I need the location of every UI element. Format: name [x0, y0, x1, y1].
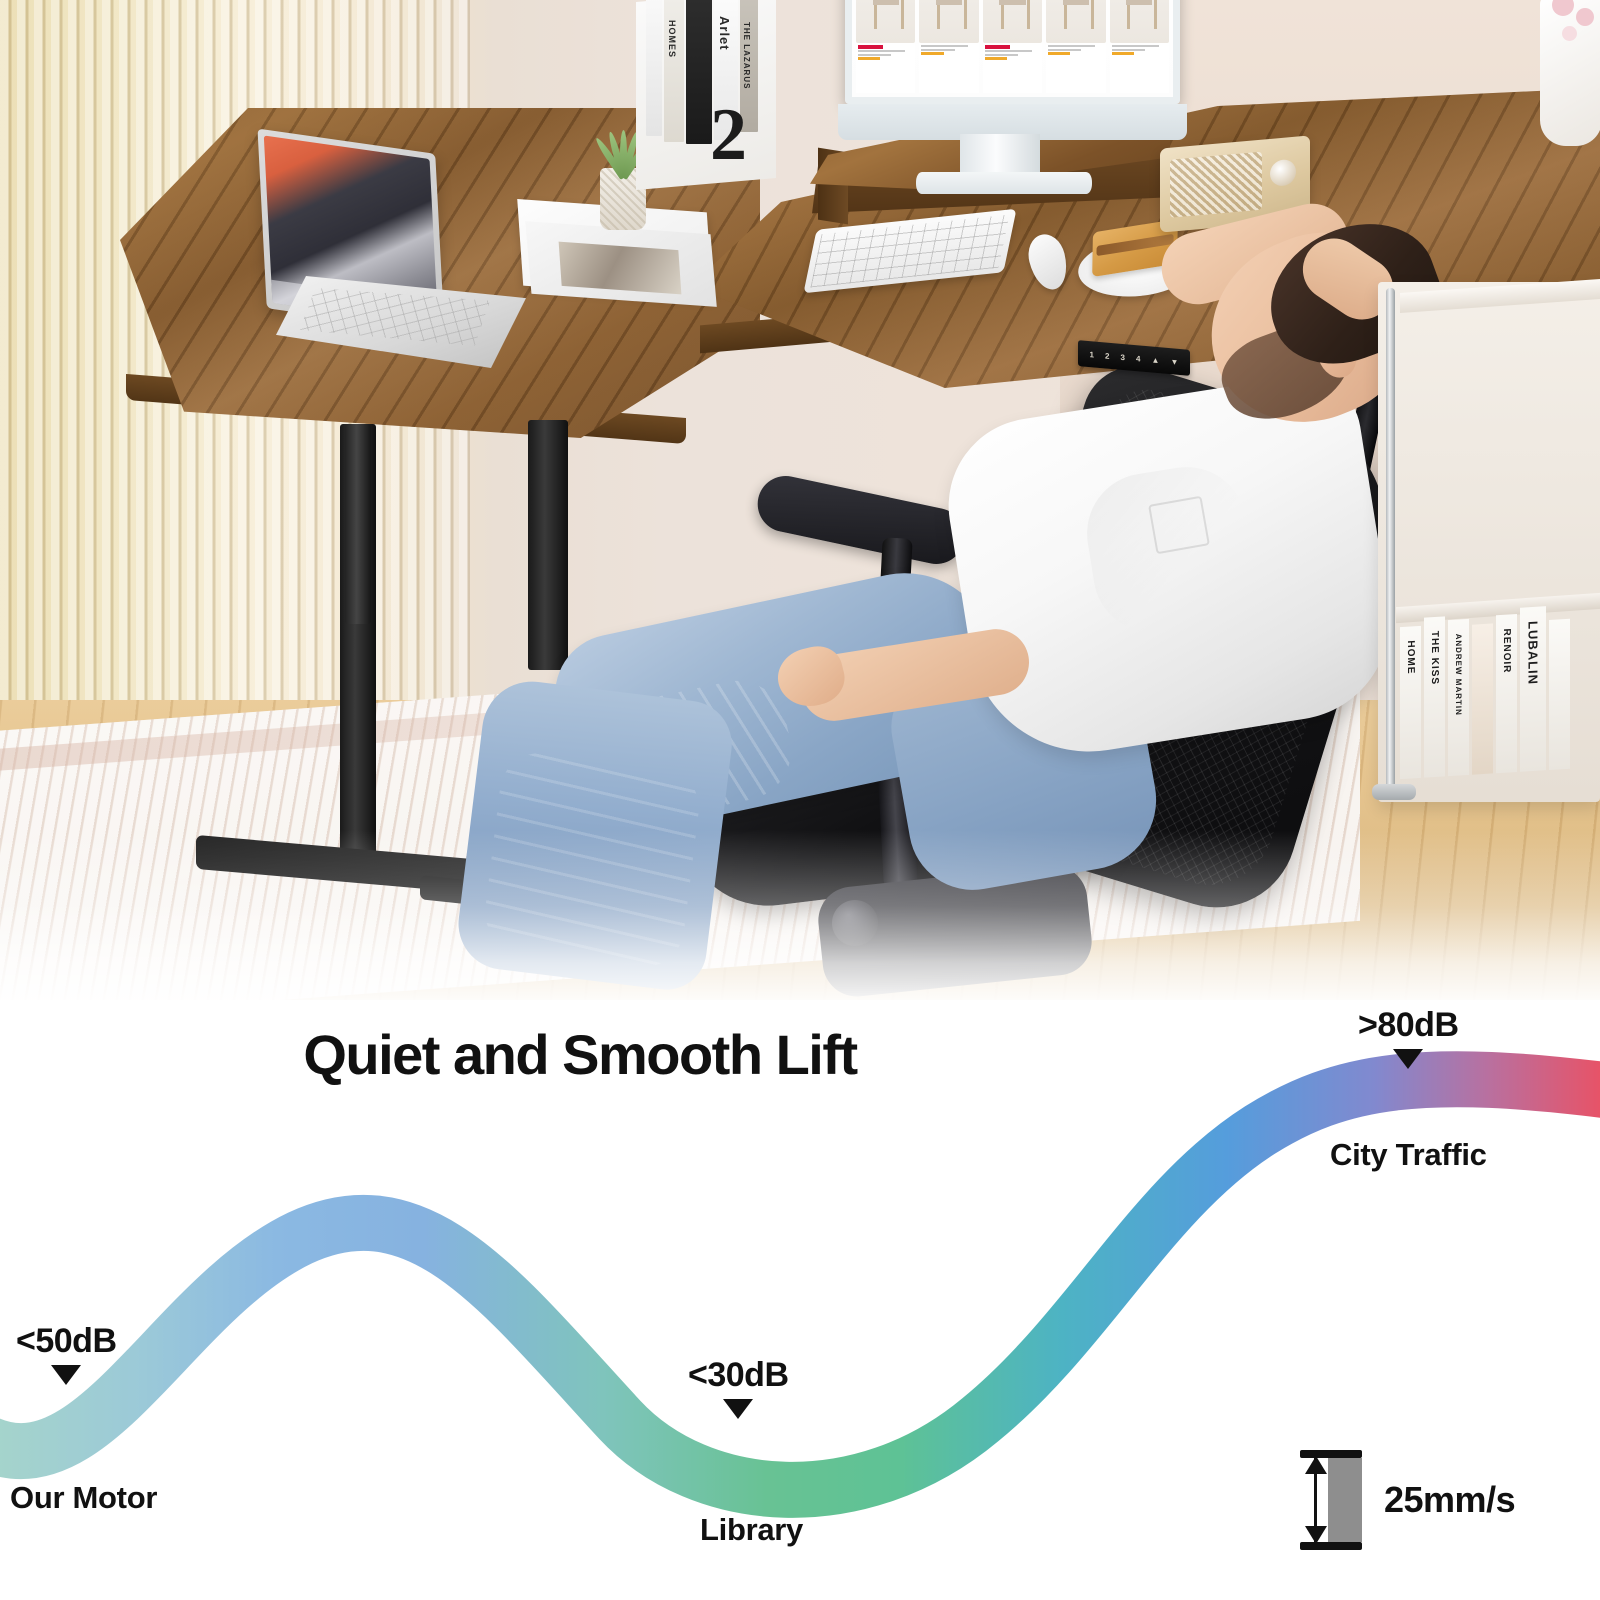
product-title-line: [985, 50, 1032, 52]
rating-stars: [921, 52, 943, 55]
keypad-preset-3[interactable]: 3: [1121, 352, 1125, 361]
jeans-fold: [481, 749, 704, 972]
shelf-book: LUBALIN: [1520, 606, 1546, 772]
bookshelf-books: HOME THE KISS ANDREW MARTIN RENOIR LUBAL…: [1400, 602, 1600, 779]
noise-comparison-section: Quiet and Smooth Lift: [0, 1000, 1600, 1600]
shelf-book: RENOIR: [1496, 614, 1517, 773]
keypad-preset-4[interactable]: 4: [1136, 354, 1140, 363]
product-card: [1046, 0, 1105, 93]
product-meta: [919, 43, 978, 93]
desk-leg-front-inner: [345, 424, 371, 624]
product-title-line: [1112, 45, 1159, 47]
desk-leg-rear: [528, 420, 568, 670]
bookshelf-foot: [1372, 784, 1416, 800]
product-title-line: [1112, 49, 1145, 51]
desk-book: [646, 0, 662, 136]
product-feature-page: HOMES Arlet THE LAZARUS 2: [0, 0, 1600, 1600]
product-title-line: [921, 45, 968, 47]
marker-our-motor: <50dB: [16, 1322, 117, 1385]
shopping-results-grid: [852, 0, 1173, 97]
marker-triangle-icon: [1393, 1049, 1423, 1069]
product-thumb: [1046, 0, 1105, 43]
bookshelf-rod: [1386, 288, 1395, 788]
speaker-knob[interactable]: [1270, 159, 1296, 187]
product-thumb: [919, 0, 978, 43]
desk-book-title: THE LAZARUS: [742, 22, 751, 89]
marker-city-traffic: >80dB: [1358, 1006, 1459, 1069]
marker-value-library: <30dB: [688, 1356, 789, 1395]
marker-value-our-motor: <50dB: [16, 1322, 117, 1361]
blossom: [1576, 8, 1594, 26]
price-badge: [985, 45, 1010, 49]
icon-bottom-cap: [1300, 1542, 1362, 1550]
desk-book-title: Arlet: [717, 16, 732, 51]
product-title-line: [1048, 49, 1081, 51]
shelf-book-title: THE KISS: [1429, 631, 1440, 686]
speaker-mesh: [1170, 152, 1262, 218]
chair-caster: [832, 900, 878, 946]
height-adjust-icon: [1300, 1450, 1362, 1550]
shelf-book-title: LUBALIN: [1526, 621, 1541, 686]
tshirt-pocket: [1148, 496, 1210, 555]
monitor-screen: [845, 0, 1180, 104]
shelf-book-title: HOME: [1405, 640, 1416, 675]
product-card: [856, 0, 915, 93]
product-card: [983, 0, 1042, 93]
product-meta: [856, 43, 915, 93]
magazine-cover-photo: [559, 242, 682, 295]
keypad-down-icon[interactable]: ▼: [1170, 357, 1178, 367]
magazine-file-number: 2: [710, 98, 747, 172]
keypad-preset-2[interactable]: 2: [1105, 351, 1109, 360]
lifestyle-photo: HOMES Arlet THE LAZARUS 2: [0, 0, 1600, 1010]
keypad-preset-1[interactable]: 1: [1090, 350, 1094, 359]
marker-value-city-traffic: >80dB: [1358, 1006, 1459, 1045]
rating-stars: [1112, 52, 1134, 55]
marker-label-our-motor: Our Motor: [10, 1480, 157, 1516]
desk-book-title: HOMES: [667, 20, 677, 58]
product-title-line: [858, 50, 905, 52]
product-title-line: [1048, 45, 1095, 47]
marker-triangle-icon: [723, 1399, 753, 1419]
marker-library: <30dB: [688, 1356, 789, 1419]
shelf-book: ANDREW MARTIN: [1448, 619, 1469, 776]
shelf-book: HOME: [1400, 626, 1421, 779]
product-meta: [1110, 43, 1169, 93]
rating-stars: [985, 57, 1007, 60]
marker-label-city-traffic: City Traffic: [1330, 1137, 1487, 1173]
product-meta: [983, 43, 1042, 93]
product-meta: [1046, 43, 1105, 93]
product-card: [1110, 0, 1169, 93]
keypad-up-icon[interactable]: ▲: [1152, 355, 1160, 365]
shelf-book-title: ANDREW MARTIN: [1454, 633, 1463, 716]
marker-label-library: Library: [700, 1512, 803, 1548]
product-thumb: [1110, 0, 1169, 43]
marker-triangle-icon: [51, 1365, 81, 1385]
shelf-book-title: RENOIR: [1501, 628, 1512, 674]
product-thumb: [856, 0, 915, 43]
shelf-book: [1472, 623, 1493, 774]
desk-book: HOMES: [664, 0, 684, 142]
lift-speed-badge: 25mm/s: [1300, 1450, 1515, 1550]
lift-speed-value: 25mm/s: [1384, 1479, 1515, 1521]
desk-book: [686, 0, 712, 144]
product-card: [919, 0, 978, 93]
product-title-line: [858, 54, 891, 56]
monitor-stand-foot: [916, 172, 1092, 194]
icon-column: [1328, 1458, 1362, 1542]
rating-stars: [858, 57, 880, 60]
icon-arrow-up: [1305, 1456, 1327, 1474]
shelf-book: [1549, 619, 1570, 770]
price-badge: [858, 45, 883, 49]
blossom: [1562, 26, 1577, 41]
rating-stars: [1048, 52, 1070, 55]
shelf-book: THE KISS: [1424, 616, 1445, 777]
product-title-line: [921, 49, 954, 51]
product-title-line: [985, 54, 1018, 56]
product-thumb: [983, 0, 1042, 43]
